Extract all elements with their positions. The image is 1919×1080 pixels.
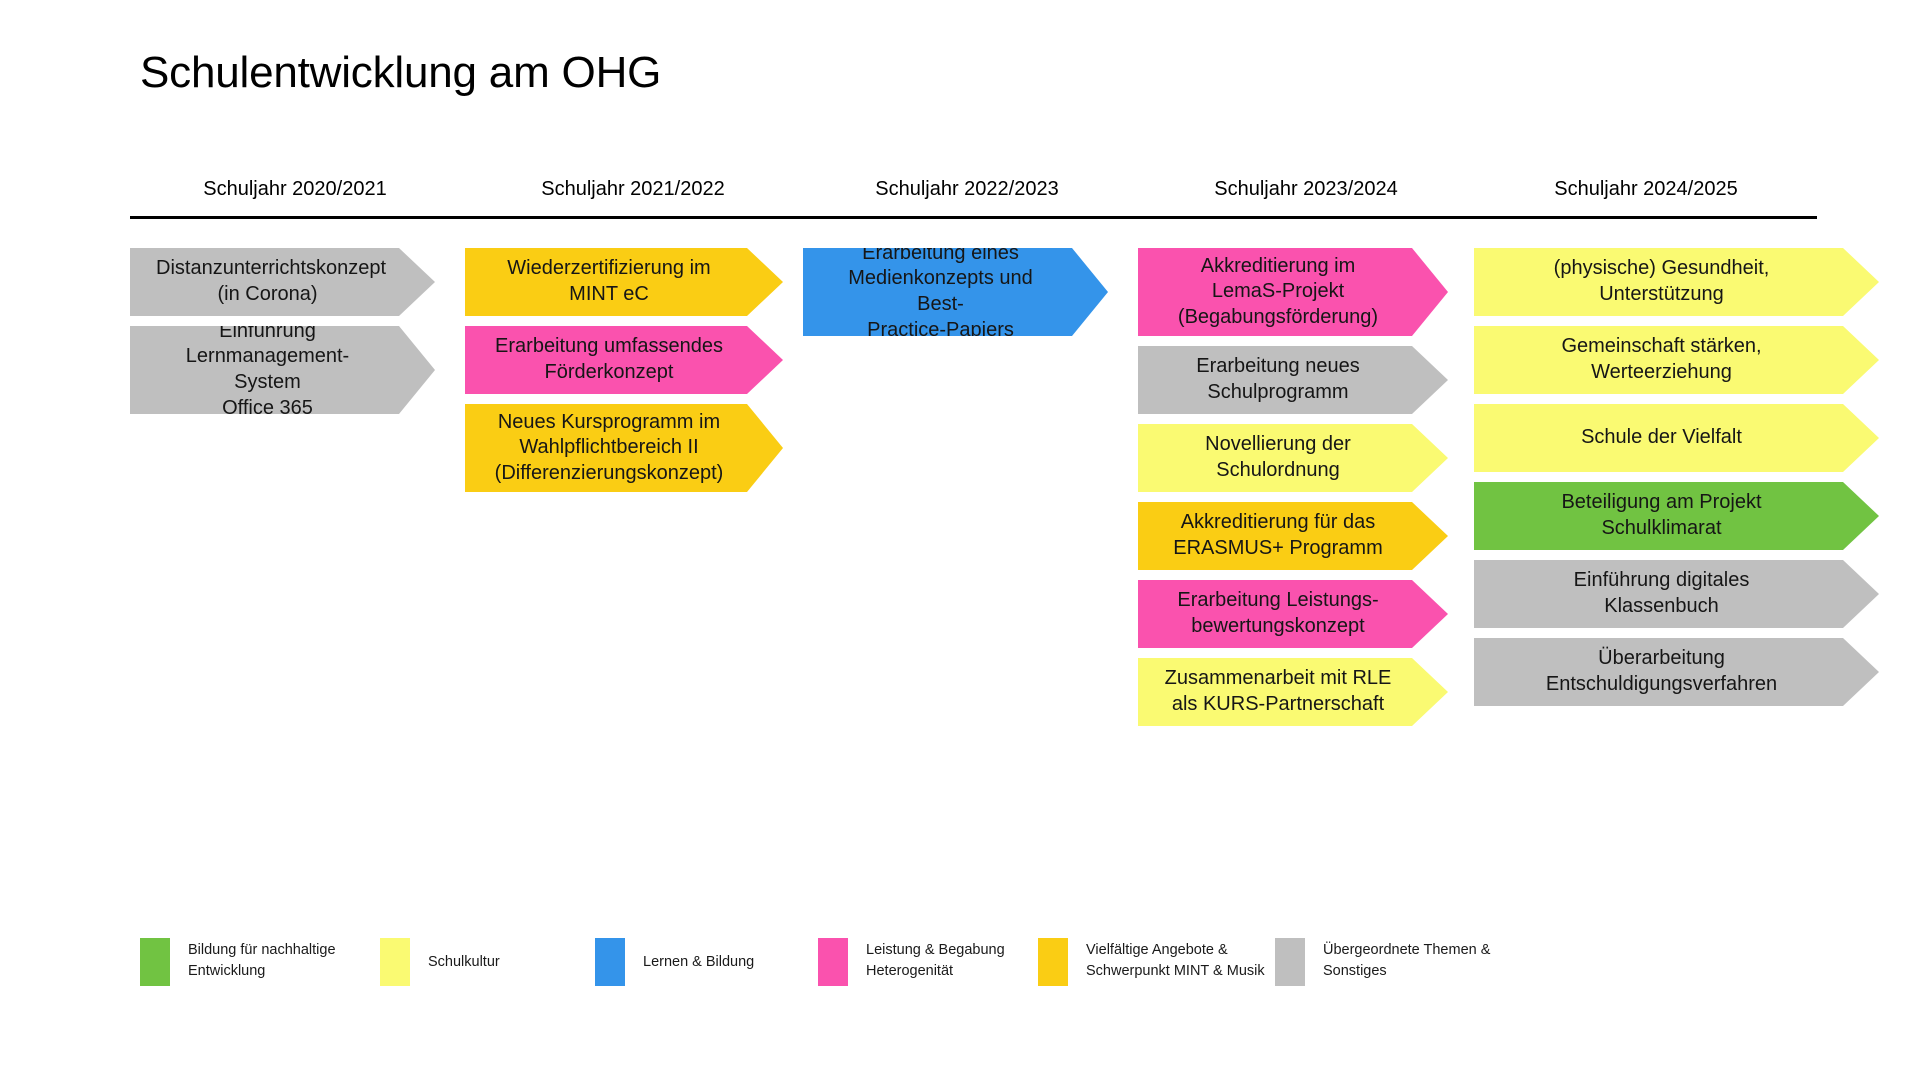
legend-color-swatch: [818, 938, 848, 986]
legend-item[interactable]: Bildung für nachhaltigeEntwicklung: [140, 938, 336, 986]
legend-item[interactable]: Leistung & BegabungHeterogenität: [818, 938, 1005, 986]
legend-label: Übergeordnete Themen &Sonstiges: [1323, 938, 1490, 981]
timeline-column-5: (physische) Gesundheit,UnterstützungGeme…: [1474, 248, 1879, 716]
milestone-chevron[interactable]: Erarbeitung umfassendesFörderkonzept: [465, 326, 783, 394]
milestone-chevron[interactable]: Novellierung derSchulordnung: [1138, 424, 1448, 492]
timeline-column-4: Akkreditierung imLemaS-Projekt(Begabungs…: [1138, 248, 1448, 736]
milestone-chevron[interactable]: Neues Kursprogramm imWahlpflichtbereich …: [465, 404, 783, 492]
milestone-label: Erarbeitung einesMedienkonzepts und Best…: [829, 241, 1052, 343]
milestone-label: Distanzunterrichtskonzept(in Corona): [156, 256, 379, 307]
milestone-chevron[interactable]: Wiederzertifizierung imMINT eC: [465, 248, 783, 316]
timeline-column-3: Erarbeitung einesMedienkonzepts und Best…: [803, 248, 1108, 346]
milestone-label: Erarbeitung neuesSchulprogramm: [1164, 354, 1392, 405]
milestone-chevron[interactable]: Erarbeitung neuesSchulprogramm: [1138, 346, 1448, 414]
legend-label: Bildung für nachhaltigeEntwicklung: [188, 938, 336, 981]
milestone-label: Wiederzertifizierung imMINT eC: [491, 256, 727, 307]
legend-label: Vielfältige Angebote &Schwerpunkt MINT &…: [1086, 938, 1265, 981]
milestone-chevron[interactable]: Zusammenarbeit mit RLEals KURS-Partnersc…: [1138, 658, 1448, 726]
legend-label: Lernen & Bildung: [643, 938, 754, 973]
milestone-label: Neues Kursprogramm imWahlpflichtbereich …: [491, 410, 727, 487]
milestone-chevron[interactable]: Schule der Vielfalt: [1474, 404, 1879, 472]
legend-label: Leistung & BegabungHeterogenität: [866, 938, 1005, 981]
legend-color-swatch: [595, 938, 625, 986]
milestone-chevron[interactable]: (physische) Gesundheit,Unterstützung: [1474, 248, 1879, 316]
legend-item[interactable]: Schulkultur: [380, 938, 500, 986]
milestone-label: Einführung digitalesKlassenbuch: [1500, 568, 1823, 619]
milestone-chevron[interactable]: EinführungLernmanagement-SystemOffice 36…: [130, 326, 435, 414]
milestone-label: (physische) Gesundheit,Unterstützung: [1500, 256, 1823, 307]
milestone-label: Zusammenarbeit mit RLEals KURS-Partnersc…: [1164, 666, 1392, 717]
timeline-column-2: Wiederzertifizierung imMINT eCErarbeitun…: [465, 248, 783, 502]
milestone-chevron[interactable]: Akkreditierung imLemaS-Projekt(Begabungs…: [1138, 248, 1448, 336]
slide-canvas: Schulentwicklung am OHG Schuljahr 2020/2…: [0, 0, 1919, 1080]
milestone-label: Erarbeitung umfassendesFörderkonzept: [491, 334, 727, 385]
milestone-label: Akkreditierung imLemaS-Projekt(Begabungs…: [1164, 254, 1392, 331]
milestone-chevron[interactable]: Akkreditierung für dasERASMUS+ Programm: [1138, 502, 1448, 570]
milestone-label: EinführungLernmanagement-SystemOffice 36…: [156, 319, 379, 421]
legend: Bildung für nachhaltigeEntwicklungSchulk…: [140, 938, 1840, 1018]
milestone-chevron[interactable]: Beteiligung am ProjektSchulklimarat: [1474, 482, 1879, 550]
legend-label: Schulkultur: [428, 938, 500, 973]
milestone-label: Beteiligung am ProjektSchulklimarat: [1500, 490, 1823, 541]
milestone-label: Schule der Vielfalt: [1500, 425, 1823, 451]
milestone-label: Erarbeitung Leistungs-bewertungskonzept: [1164, 588, 1392, 639]
timeline-column-1: Distanzunterrichtskonzept(in Corona)Einf…: [130, 248, 435, 424]
milestone-chevron[interactable]: Distanzunterrichtskonzept(in Corona): [130, 248, 435, 316]
milestone-chevron[interactable]: Erarbeitung Leistungs-bewertungskonzept: [1138, 580, 1448, 648]
legend-color-swatch: [140, 938, 170, 986]
legend-item[interactable]: Lernen & Bildung: [595, 938, 754, 986]
milestone-chevron[interactable]: Erarbeitung einesMedienkonzepts und Best…: [803, 248, 1108, 336]
milestone-chevron[interactable]: Einführung digitalesKlassenbuch: [1474, 560, 1879, 628]
milestone-label: Novellierung derSchulordnung: [1164, 432, 1392, 483]
timeline-columns: Distanzunterrichtskonzept(in Corona)Einf…: [0, 0, 1919, 1080]
legend-color-swatch: [380, 938, 410, 986]
legend-item[interactable]: Vielfältige Angebote &Schwerpunkt MINT &…: [1038, 938, 1265, 986]
milestone-label: Akkreditierung für dasERASMUS+ Programm: [1164, 510, 1392, 561]
milestone-label: ÜberarbeitungEntschuldigungsverfahren: [1500, 646, 1823, 697]
milestone-label: Gemeinschaft stärken,Werteerziehung: [1500, 334, 1823, 385]
legend-item[interactable]: Übergeordnete Themen &Sonstiges: [1275, 938, 1490, 986]
legend-color-swatch: [1038, 938, 1068, 986]
milestone-chevron[interactable]: Gemeinschaft stärken,Werteerziehung: [1474, 326, 1879, 394]
milestone-chevron[interactable]: ÜberarbeitungEntschuldigungsverfahren: [1474, 638, 1879, 706]
legend-color-swatch: [1275, 938, 1305, 986]
